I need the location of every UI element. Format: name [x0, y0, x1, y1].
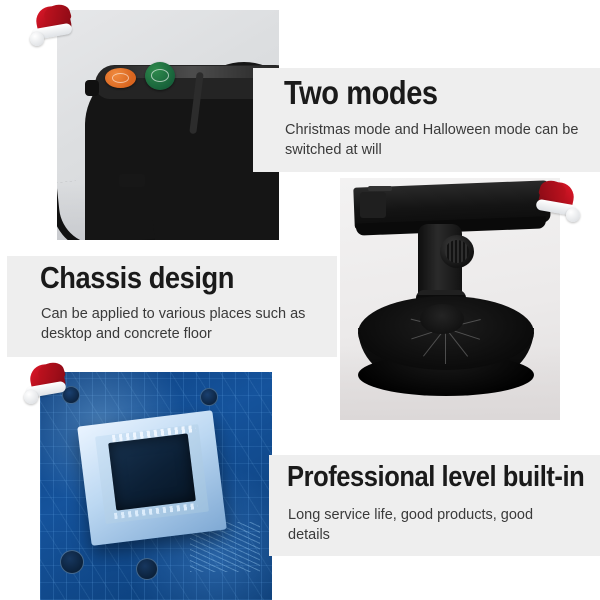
projector-vent: [368, 186, 392, 191]
santa-hat-icon: [30, 4, 76, 48]
product-photo-projector-top: [57, 10, 279, 240]
tilt-knob-ridges: [445, 240, 469, 263]
feature-heading-two-modes: Two modes: [284, 74, 438, 112]
feature-panel-two-modes: Two modes Christmas mode and Halloween m…: [253, 68, 600, 172]
projector-side-nub: [85, 80, 99, 96]
feature-heading-professional-level: Professional level built-in: [287, 461, 584, 494]
feature-heading-chassis-design: Chassis design: [40, 260, 234, 296]
feature-panel-chassis-design: Chassis design Can be applied to various…: [7, 256, 337, 357]
santa-hat-icon: [24, 362, 70, 406]
santa-hat-pompom: [24, 390, 38, 404]
product-photo-chassis-base: [340, 178, 560, 420]
pcb-capacitor: [200, 388, 218, 406]
feature-panel-professional-level: Professional level built-in Long service…: [269, 455, 600, 556]
santa-hat-icon: [534, 180, 580, 224]
projector-port-block: [360, 192, 386, 218]
base-hub: [420, 304, 464, 334]
feature-body-chassis-design: Can be applied to various places such as…: [41, 304, 329, 344]
santa-hat-pompom: [566, 208, 580, 222]
product-photo-circuit-board: [40, 372, 272, 600]
power-plug: [119, 174, 145, 187]
power-button-icon[interactable]: [105, 68, 136, 88]
mode-button-icon[interactable]: [145, 62, 175, 90]
pcb-capacitor: [60, 550, 84, 574]
santa-hat-pompom: [30, 32, 44, 46]
chip-die: [108, 433, 196, 510]
feature-body-professional-level: Long service life, good products, good d…: [288, 505, 578, 545]
pcb-capacitor: [136, 558, 158, 580]
infographic-stage: Two modes Christmas mode and Halloween m…: [0, 0, 600, 600]
feature-body-two-modes: Christmas mode and Halloween mode can be…: [285, 120, 585, 160]
